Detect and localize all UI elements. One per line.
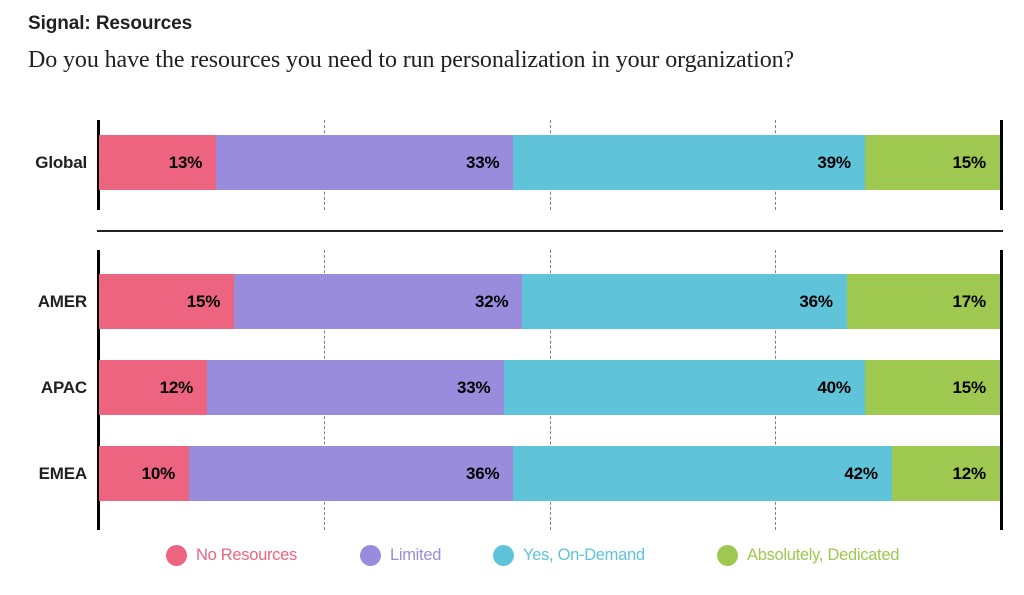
bar-segment-value: 13%	[169, 153, 216, 173]
bar-segment-value: 40%	[817, 378, 864, 398]
bar-segment-limited[interactable]: 36%	[189, 446, 513, 501]
bar-segment-no_resources[interactable]: 13%	[99, 135, 216, 190]
bar-track: 15%32%36%17%	[99, 274, 1000, 329]
panel-divider	[97, 230, 1003, 232]
bar-track: 10%36%42%12%	[99, 446, 1000, 501]
category-label-apac: APAC	[0, 378, 87, 398]
chart-right-border	[1000, 120, 1003, 210]
circle-swatch-icon	[493, 545, 514, 566]
bar-segment-value: 12%	[953, 464, 1000, 484]
category-label-amer: AMER	[0, 292, 87, 312]
legend-item-limited[interactable]: Limited	[360, 545, 441, 566]
bar-segment-value: 15%	[953, 153, 1000, 173]
category-label-global: Global	[0, 153, 87, 173]
bar-segment-value: 15%	[953, 378, 1000, 398]
bar-row-apac: 12%33%40%15%	[99, 360, 1000, 415]
bar-segment-value: 15%	[187, 292, 234, 312]
bar-segment-absolutely_dedicated[interactable]: 15%	[865, 360, 1000, 415]
bar-track: 13%33%39%15%	[99, 135, 1000, 190]
legend-label: Absolutely, Dedicated	[747, 547, 899, 564]
bar-segment-value: 10%	[142, 464, 189, 484]
chart-right-border	[1000, 250, 1003, 530]
legend-label: Limited	[390, 547, 441, 564]
bar-segment-yes_on_demand[interactable]: 42%	[513, 446, 891, 501]
bar-segment-absolutely_dedicated[interactable]: 15%	[865, 135, 1000, 190]
bar-segment-limited[interactable]: 33%	[207, 360, 504, 415]
bar-track: 12%33%40%15%	[99, 360, 1000, 415]
bar-segment-value: 17%	[953, 292, 1000, 312]
bar-segment-yes_on_demand[interactable]: 39%	[513, 135, 864, 190]
bar-segment-value: 32%	[475, 292, 522, 312]
bar-row-amer: 15%32%36%17%	[99, 274, 1000, 329]
category-label-emea: EMEA	[0, 464, 87, 484]
circle-swatch-icon	[717, 545, 738, 566]
chart-legend: No ResourcesLimitedYes, On-DemandAbsolut…	[0, 545, 1024, 575]
legend-label: No Resources	[196, 547, 297, 564]
circle-swatch-icon	[360, 545, 381, 566]
bar-segment-value: 33%	[457, 378, 504, 398]
bar-segment-value: 36%	[799, 292, 846, 312]
bar-row-emea: 10%36%42%12%	[99, 446, 1000, 501]
bar-row-global: 13%33%39%15%	[99, 135, 1000, 190]
bar-segment-no_resources[interactable]: 12%	[99, 360, 207, 415]
stacked-bar-chart: Global13%33%39%15%AMER15%32%36%17%APAC12…	[0, 0, 1024, 595]
bar-segment-value: 42%	[844, 464, 891, 484]
bar-segment-value: 39%	[817, 153, 864, 173]
bar-segment-value: 12%	[160, 378, 207, 398]
bar-segment-yes_on_demand[interactable]: 40%	[504, 360, 864, 415]
bar-segment-absolutely_dedicated[interactable]: 17%	[847, 274, 1000, 329]
bar-segment-value: 33%	[466, 153, 513, 173]
bar-segment-limited[interactable]: 32%	[234, 274, 522, 329]
circle-swatch-icon	[166, 545, 187, 566]
legend-item-no-resources[interactable]: No Resources	[166, 545, 297, 566]
legend-item-yes-on-demand[interactable]: Yes, On-Demand	[493, 545, 645, 566]
bar-segment-limited[interactable]: 33%	[216, 135, 513, 190]
bar-segment-no_resources[interactable]: 15%	[99, 274, 234, 329]
bar-segment-no_resources[interactable]: 10%	[99, 446, 189, 501]
bar-segment-absolutely_dedicated[interactable]: 12%	[892, 446, 1000, 501]
bar-segment-yes_on_demand[interactable]: 36%	[522, 274, 846, 329]
bar-segment-value: 36%	[466, 464, 513, 484]
legend-label: Yes, On-Demand	[523, 547, 645, 564]
legend-item-absolutely-dedicated[interactable]: Absolutely, Dedicated	[717, 545, 899, 566]
